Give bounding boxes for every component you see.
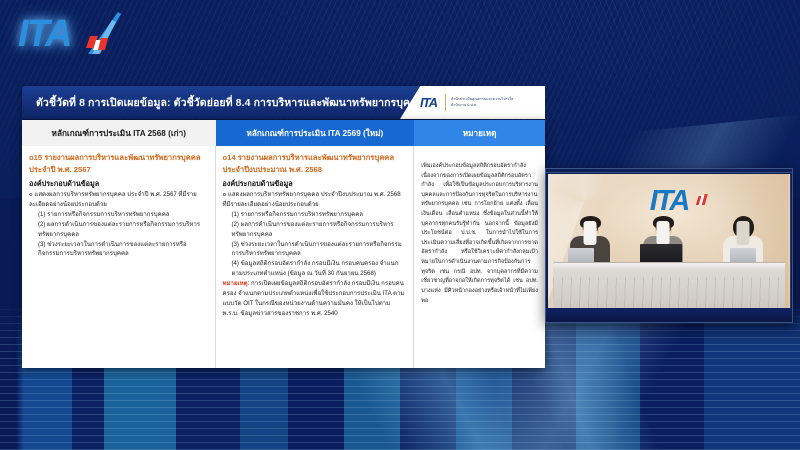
ita-swoosh-icon — [74, 10, 124, 60]
video-scrollbar[interactable] — [788, 174, 791, 308]
stage-ita-swoosh-icon — [696, 194, 710, 206]
old-line-3: (3) ช่วงระยะเวลาในการดำเนินการของแต่ละรา… — [29, 240, 208, 260]
presenter-desk — [553, 262, 785, 308]
new-note-paragraph: หมายเหตุ: การเปิดเผยข้อมูลสถิติกรอบอัตรา… — [223, 279, 407, 318]
new-note-label: หมายเหตุ — [223, 280, 248, 287]
video-bottom-bar — [546, 308, 792, 322]
table-header-row: หลักเกณฑ์การประเมิน ITA 2568 (เก่า) หลัก… — [22, 120, 545, 146]
video-stage: ITA — [548, 174, 790, 308]
column-header-note: หมายเหตุ — [414, 120, 545, 146]
column-old-criteria: o15 รายงานผลการบริหารและพัฒนาทรัพยากรบุค… — [22, 146, 216, 368]
stage-ita-logo: ITA — [650, 185, 689, 218]
old-section-label: องค์ประกอบด้านข้อมูล — [29, 179, 208, 190]
column-header-old: หลักเกณฑ์การประเมิน ITA 2568 (เก่า) — [22, 120, 216, 146]
new-line-4: (4) ข้อมูลสถิติกรอบอัตรากำลัง กรอบมีเงิน… — [223, 259, 407, 279]
comparison-table-card: หลักเกณฑ์การประเมิน ITA 2568 (เก่า) หลัก… — [22, 120, 545, 368]
desk-skirt — [553, 277, 785, 308]
video-titlebar — [546, 169, 792, 173]
new-note-text: : การเปิดเผยข้อมูลสถิติกรอบอัตรากำลัง กร… — [223, 280, 405, 317]
old-line-0: ๐ แสดงผลการบริหารทรัพยากรบุคคล ประจำปี พ… — [29, 190, 208, 210]
old-line-1: (1) รายการหรือกิจกรรมการบริหารทรัพยากรบุ… — [29, 210, 208, 220]
badge-divider — [445, 94, 446, 111]
new-line-1: (1) รายการหรือกิจกรรมการบริหารทรัพยากรบุ… — [223, 210, 407, 220]
new-section-label: องค์ประกอบด้านข้อมูล — [223, 179, 407, 190]
page-title: ตัวชี้วัดที่ 8 การเปิดเผยข้อมูล: ตัวชี้ว… — [22, 94, 424, 111]
agency-badge-text: สำนักประเมินคุณธรรมและความโปร่งใส สำนักง… — [451, 97, 513, 108]
remarks-text: เพิ่มเองค์ประกอบข้อมูลสถิติกรอบอัตรากำลั… — [421, 152, 538, 306]
column-header-new: หลักเกณฑ์การประเมิน ITA 2569 (ใหม่) — [216, 120, 415, 146]
old-code-title: o15 รายงานผลการบริหารและพัฒนาทรัพยากรบุค… — [29, 152, 208, 176]
presenter-center-shirt — [657, 221, 670, 245]
presenter-right-shirt — [737, 221, 750, 245]
table-body: o15 รายงานผลการบริหารและพัฒนาทรัพยากรบุค… — [22, 146, 545, 368]
old-body: ๐ แสดงผลการบริหารทรัพยากรบุคคล ประจำปี พ… — [29, 190, 208, 259]
new-line-0: ๐ แสดงผลการบริหารทรัพยากรบุคคล ประจำปีงบ… — [223, 190, 407, 210]
agency-badge-logo: ITA — [420, 95, 440, 110]
new-code-title: o14 รายงานผลการบริหารและพัฒนาทรัพยากรบุค… — [223, 152, 407, 176]
new-body: ๐ แสดงผลการบริหารทรัพยากรบุคคล ประจำปีงบ… — [223, 190, 407, 318]
presenter-left-shirt — [584, 221, 597, 245]
old-line-2: (2) ผลการดำเนินการของแต่ละรายการหรือกิจก… — [29, 220, 208, 240]
new-line-2: (2) ผลการดำเนินการของแต่ละรายการหรือกิจก… — [223, 220, 407, 240]
column-remarks: เพิ่มเองค์ประกอบข้อมูลสถิติกรอบอัตรากำลั… — [414, 146, 545, 368]
new-line-3: (3) ช่วงระยะเวลาในการดำเนินการของแต่ละรา… — [223, 240, 407, 260]
ita-logo: ITA — [18, 8, 128, 60]
column-new-criteria: o14 รายงานผลการบริหารและพัฒนาทรัพยากรบุค… — [216, 146, 415, 368]
webinar-video-panel[interactable]: ITA — [545, 168, 793, 323]
ita-logo-text: ITA — [18, 13, 70, 55]
agency-badge: ITA สำนักประเมินคุณธรรมและความโปร่งใส สำ… — [400, 86, 545, 119]
